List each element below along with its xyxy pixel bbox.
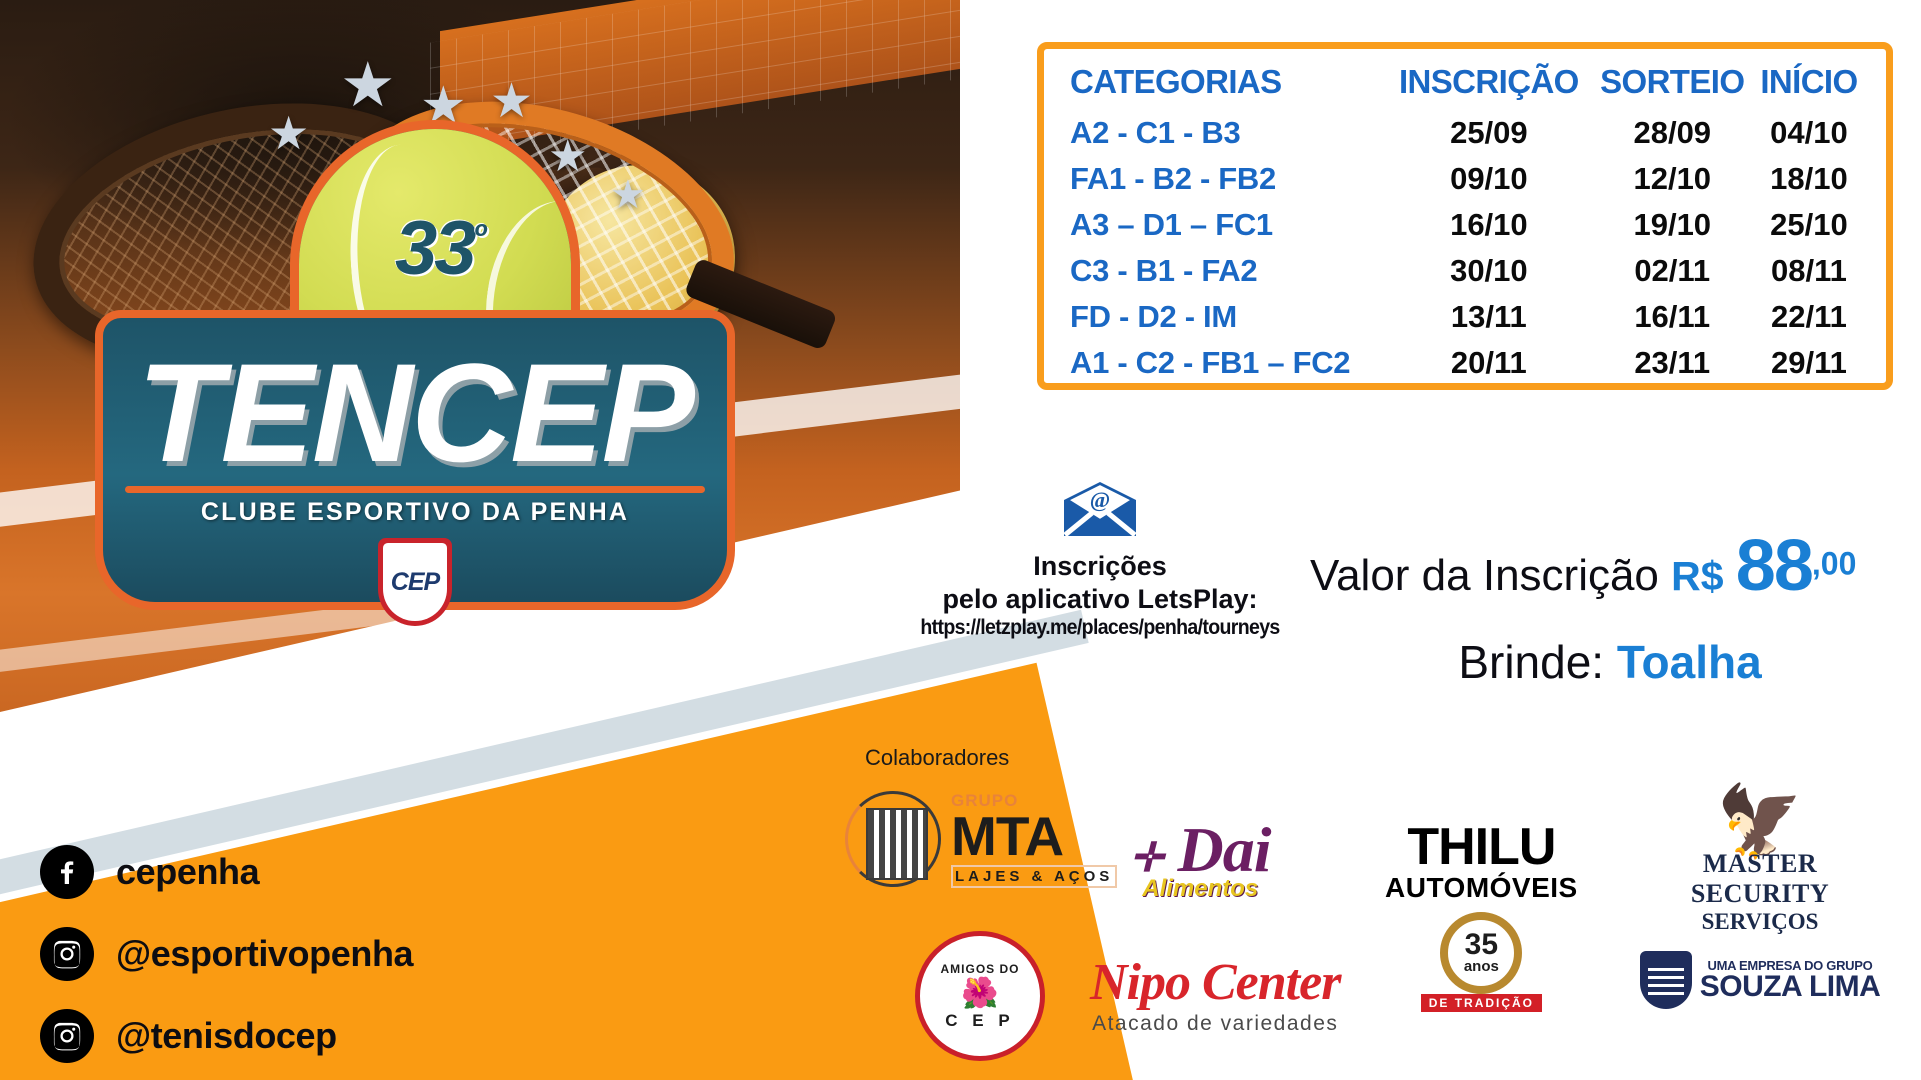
table-row: A3 – D1 – FC1 16/10 19/10 25/10	[1070, 202, 1864, 248]
column-header-categorias: CATEGORIAS	[1070, 63, 1387, 110]
cell-categoria: A1 - C2 - FB1 – FC2	[1070, 340, 1387, 386]
pricing-block: Valor da Inscrição R$ 88,00 Brinde: Toal…	[1310, 525, 1910, 689]
edition-number: 33º	[395, 205, 483, 292]
cell-categoria: FA1 - B2 - FB2	[1070, 156, 1387, 202]
tencep-logo: 33º 2º Semestre2025 TENCEP CLUBE ESPORTI…	[95, 120, 735, 680]
cep-crest: CEP	[378, 538, 452, 626]
registration-line2: pelo aplicativo LetsPlay:	[885, 583, 1315, 616]
cell-categoria: C3 - B1 - FA2	[1070, 248, 1387, 294]
souza-group-line2: SOUZA LIMA	[1700, 973, 1881, 1002]
registration-line1: Inscrições	[885, 550, 1315, 583]
mta-building-icon	[845, 791, 941, 887]
logo-separator	[125, 486, 705, 493]
souza-lima-group: UMA EMPRESA DO GRUPO SOUZA LIMA	[1635, 951, 1885, 1009]
column-header-sorteio: SORTEIO	[1591, 63, 1754, 110]
cep-crest-label: CEP	[383, 543, 447, 621]
nipo-subtitle: Atacado de variedades	[1090, 1012, 1340, 1036]
cell-inscricao: 20/11	[1387, 340, 1590, 386]
cell-sorteio: 19/10	[1591, 202, 1754, 248]
column-header-inicio: INÍCIO	[1754, 63, 1864, 110]
mta-subtitle: LAJES & AÇOS	[951, 865, 1117, 888]
club-tagline: CLUBE ESPORTIVO DA PENHA	[95, 498, 735, 527]
sponsor-logo-nipo-center: Nipo Center Atacado de variedades	[1090, 953, 1340, 1036]
table-row: FD - D2 - IM 13/11 16/11 22/11	[1070, 294, 1864, 340]
table-row: C3 - B1 - FA2 30/10 02/11 08/11	[1070, 248, 1864, 294]
gift-label: Brinde:	[1458, 636, 1604, 688]
email-envelope-at-icon: @	[1062, 480, 1138, 538]
sponsors-section: Colaboradores GRUPO MTA LAJES & AÇOS AMI…	[865, 745, 1915, 1080]
cell-sorteio: 23/11	[1591, 340, 1754, 386]
social-links: cepenha @esportivopenha @tenisdocep	[40, 845, 413, 1080]
cell-inicio: 25/10	[1754, 202, 1864, 248]
thilu-tradition-label: DE TRADIÇÃO	[1421, 994, 1542, 1012]
cell-inicio: 29/11	[1754, 340, 1864, 386]
nipo-name: Nipo Center	[1090, 953, 1340, 1012]
amigos-top-label: AMIGOS DO	[940, 962, 1019, 976]
currency-symbol: R$	[1671, 553, 1723, 599]
table-row: A2 - C1 - B3 25/09 28/09 04/10	[1070, 110, 1864, 156]
sponsors-heading: Colaboradores	[865, 745, 1915, 771]
table-row: FA1 - B2 - FB2 09/10 12/10 18/10	[1070, 156, 1864, 202]
mta-name: MTA	[951, 811, 1117, 862]
star-icon: ★	[490, 78, 533, 126]
table-row: A1 - C2 - FB1 – FC2 20/11 23/11 29/11	[1070, 340, 1864, 386]
instagram-icon	[40, 927, 94, 981]
cell-categoria: A2 - C1 - B3	[1070, 110, 1387, 156]
social-item-instagram-tenisdocep[interactable]: @tenisdocep	[40, 1009, 413, 1063]
schedule-table: CATEGORIAS INSCRIÇÃO SORTEIO INÍCIO A2 -…	[1037, 42, 1893, 390]
social-handle: cepenha	[116, 851, 259, 893]
price-cents: ,00	[1812, 545, 1856, 581]
thilu-years: 35	[1465, 931, 1498, 958]
thilu-subtitle: AUTOMÓVEIS	[1385, 872, 1578, 904]
sponsor-logo-master-security: 🦅 MASTER SECURITY SERVIÇOS UMA EMPRESA D…	[1635, 793, 1885, 1009]
sponsor-logo-dai: ✛ Dai Alimentos	[1130, 813, 1271, 903]
tournament-poster: ★ ★ ★ ★ ★ ★ ★ cepenha @esportivopenha @t…	[0, 0, 1921, 1080]
cell-inscricao: 25/09	[1387, 110, 1590, 156]
cell-inscricao: 13/11	[1387, 294, 1590, 340]
cell-inscricao: 09/10	[1387, 156, 1590, 202]
facebook-icon	[40, 845, 94, 899]
cell-inscricao: 30/10	[1387, 248, 1590, 294]
svg-text:@: @	[1090, 487, 1110, 512]
column-header-inscricao: INSCRIÇÃO	[1387, 63, 1590, 110]
cell-sorteio: 12/10	[1591, 156, 1754, 202]
price-label: Valor da Inscrição	[1310, 551, 1659, 600]
cell-inicio: 04/10	[1754, 110, 1864, 156]
master-name-line1: MASTER SECURITY	[1635, 849, 1885, 909]
thilu-35-years-badge: 35 anos	[1440, 912, 1522, 994]
sponsor-logo-amigos-do-cep: AMIGOS DO 🌺 C E P	[915, 931, 1045, 1061]
price-row: Valor da Inscrição R$ 88,00	[1310, 525, 1910, 607]
gift-row: Brinde: Toalha	[1310, 635, 1910, 689]
dai-star-icon: ✛	[1130, 835, 1163, 880]
cell-categoria: A3 – D1 – FC1	[1070, 202, 1387, 248]
gift-value: Toalha	[1617, 636, 1762, 688]
amigos-bottom-label: C E P	[945, 1011, 1014, 1031]
amigos-flower-icon: 🌺	[961, 976, 998, 1011]
wordmark: TENCEP	[95, 332, 735, 494]
registration-block: @ Inscrições pelo aplicativo LetsPlay: h…	[885, 480, 1315, 640]
cell-inicio: 08/11	[1754, 248, 1864, 294]
star-icon: ★	[340, 55, 396, 117]
table-header-row: CATEGORIAS INSCRIÇÃO SORTEIO INÍCIO	[1070, 63, 1864, 110]
cell-inscricao: 16/10	[1387, 202, 1590, 248]
social-handle: @esportivopenha	[116, 933, 413, 975]
cell-sorteio: 28/09	[1591, 110, 1754, 156]
eagle-wings-icon: 🦅	[1635, 793, 1885, 849]
thilu-name: THILU	[1385, 823, 1578, 872]
registration-url[interactable]: https://letzplay.me/places/penha/tourney…	[900, 616, 1300, 640]
cell-sorteio: 16/11	[1591, 294, 1754, 340]
dai-subtitle: Alimentos	[1130, 875, 1271, 903]
cell-sorteio: 02/11	[1591, 248, 1754, 294]
sponsor-logo-thilu: THILU AUTOMÓVEIS 35 anos DE TRADIÇÃO	[1385, 823, 1578, 1012]
cell-inicio: 22/11	[1754, 294, 1864, 340]
master-name-line2: SERVIÇOS	[1635, 909, 1885, 935]
social-item-facebook[interactable]: cepenha	[40, 845, 413, 899]
sponsor-logo-mta: GRUPO MTA LAJES & AÇOS	[845, 791, 1117, 888]
thilu-years-label: anos	[1464, 958, 1499, 975]
cell-categoria: FD - D2 - IM	[1070, 294, 1387, 340]
social-item-instagram-esportivopenha[interactable]: @esportivopenha	[40, 927, 413, 981]
cell-inicio: 18/10	[1754, 156, 1864, 202]
social-handle: @tenisdocep	[116, 1015, 337, 1057]
souza-shield-icon	[1640, 951, 1692, 1009]
price-amount: 88	[1736, 526, 1812, 606]
instagram-icon	[40, 1009, 94, 1063]
